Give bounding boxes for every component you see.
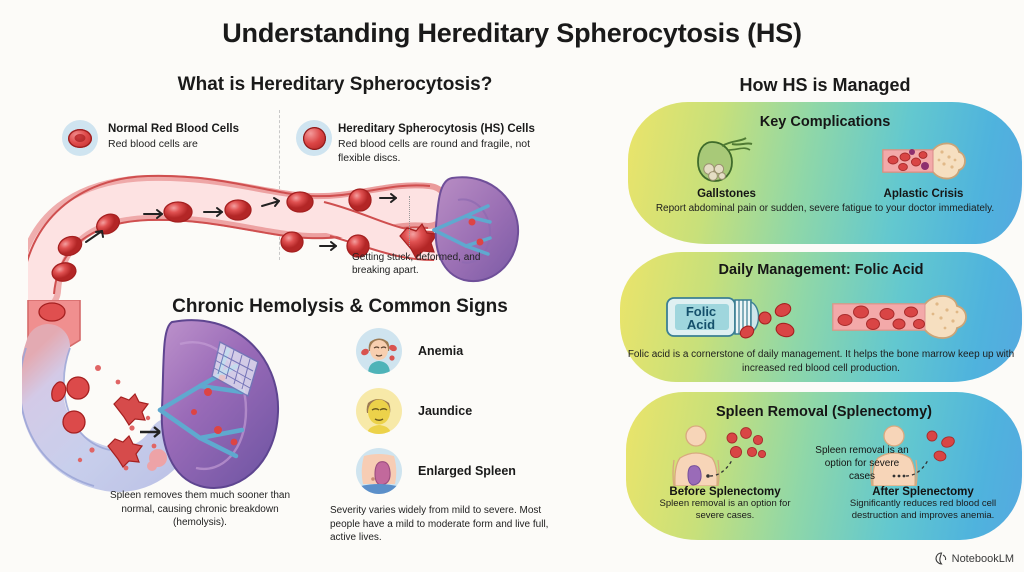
sign-label: Jaundice: [418, 404, 472, 418]
complication-label: Aplastic Crisis: [884, 188, 964, 200]
notebooklm-logo-icon: [935, 552, 948, 565]
splenectomy-note: Spleen removal is an option for severe c…: [812, 444, 912, 483]
annotation-getting-stuck: Getting stuck, deformed, and breaking ap…: [352, 251, 512, 277]
caption-spleen-removes: Spleen removes them much sooner than nor…: [100, 489, 300, 530]
folic-acid-illustration: Folic Acid: [620, 288, 1022, 344]
sign-item-jaundice: Jaundice: [356, 388, 472, 434]
section-heading-how-hs-is-managed: How HS is Managed: [630, 75, 1020, 96]
folic-acid-bottle-icon: Folic Acid: [665, 288, 815, 344]
tired-person-face-icon: [356, 328, 402, 374]
watermark: NotebookLM: [935, 552, 1014, 565]
caption-severity-varies: Severity varies widely from mild to seve…: [330, 504, 555, 545]
section-heading-what-is-hs: What is Hereditary Spherocytosis?: [90, 74, 580, 96]
complication-gallstones: Gallstones: [628, 136, 825, 200]
infographic-canvas: Understanding Hereditary Spherocytosis (…: [0, 0, 1024, 572]
panel-title: Daily Management: Folic Acid: [620, 262, 1022, 278]
page-title: Understanding Hereditary Spherocytosis (…: [0, 18, 1024, 49]
splenectomy-column-title: After Splenectomy: [872, 486, 974, 498]
splenectomy-column-desc: Spleen removal is an option for severe c…: [650, 498, 800, 523]
callout-title: Normal Red Blood Cells: [108, 122, 288, 136]
spleen-hemolysis-illustration: [22, 300, 302, 495]
sign-item-anemia: Anemia: [356, 328, 463, 374]
callout-title: Hereditary Spherocytosis (HS) Cells: [338, 122, 553, 136]
complication-aplastic-crisis: Aplastic Crisis: [825, 136, 1022, 200]
complication-row: Gallstones: [628, 136, 1022, 200]
bone-marrow-icon: [879, 136, 969, 184]
panel-title: Key Complications: [628, 114, 1022, 130]
enlarged-spleen-abdomen-icon: [356, 448, 402, 494]
sign-label: Enlarged Spleen: [418, 464, 516, 478]
callout-normal-red-blood-cells: Normal Red Blood Cells Red blood cells a…: [108, 122, 288, 152]
watermark-label: NotebookLM: [952, 553, 1014, 565]
panel-spleen-removal: Spleen Removal (Splenectomy) Before: [626, 392, 1022, 540]
yellow-jaundiced-face-icon: [356, 388, 402, 434]
bone-marrow-production-icon: [829, 288, 977, 344]
sign-item-enlarged-spleen: Enlarged Spleen: [356, 448, 516, 494]
annotation-leader-line: [409, 196, 410, 246]
panel-title: Spleen Removal (Splenectomy): [626, 404, 1022, 420]
bottle-label-line2: Acid: [687, 317, 715, 332]
complication-label: Gallstones: [697, 188, 756, 200]
blood-vessel-illustration: [28, 150, 528, 300]
panel-key-complications: Key Complications Gallstones: [628, 102, 1022, 244]
sign-label: Anemia: [418, 344, 463, 358]
splenectomy-column-desc: Significantly reduces red blood cell des…: [848, 498, 998, 523]
panel-caption: Folic acid is a cornerstone of daily man…: [620, 348, 1022, 375]
panel-caption: Report abdominal pain or sudden, severe …: [628, 202, 1022, 216]
body-with-spleen-icon: [670, 424, 780, 486]
gallbladder-gallstones-icon: [688, 136, 766, 184]
panel-daily-management: Daily Management: Folic Acid Folic Acid: [620, 252, 1022, 382]
splenectomy-before: Before Splenectomy Spleen removal is an …: [626, 424, 824, 523]
splenectomy-column-title: Before Splenectomy: [669, 486, 780, 498]
